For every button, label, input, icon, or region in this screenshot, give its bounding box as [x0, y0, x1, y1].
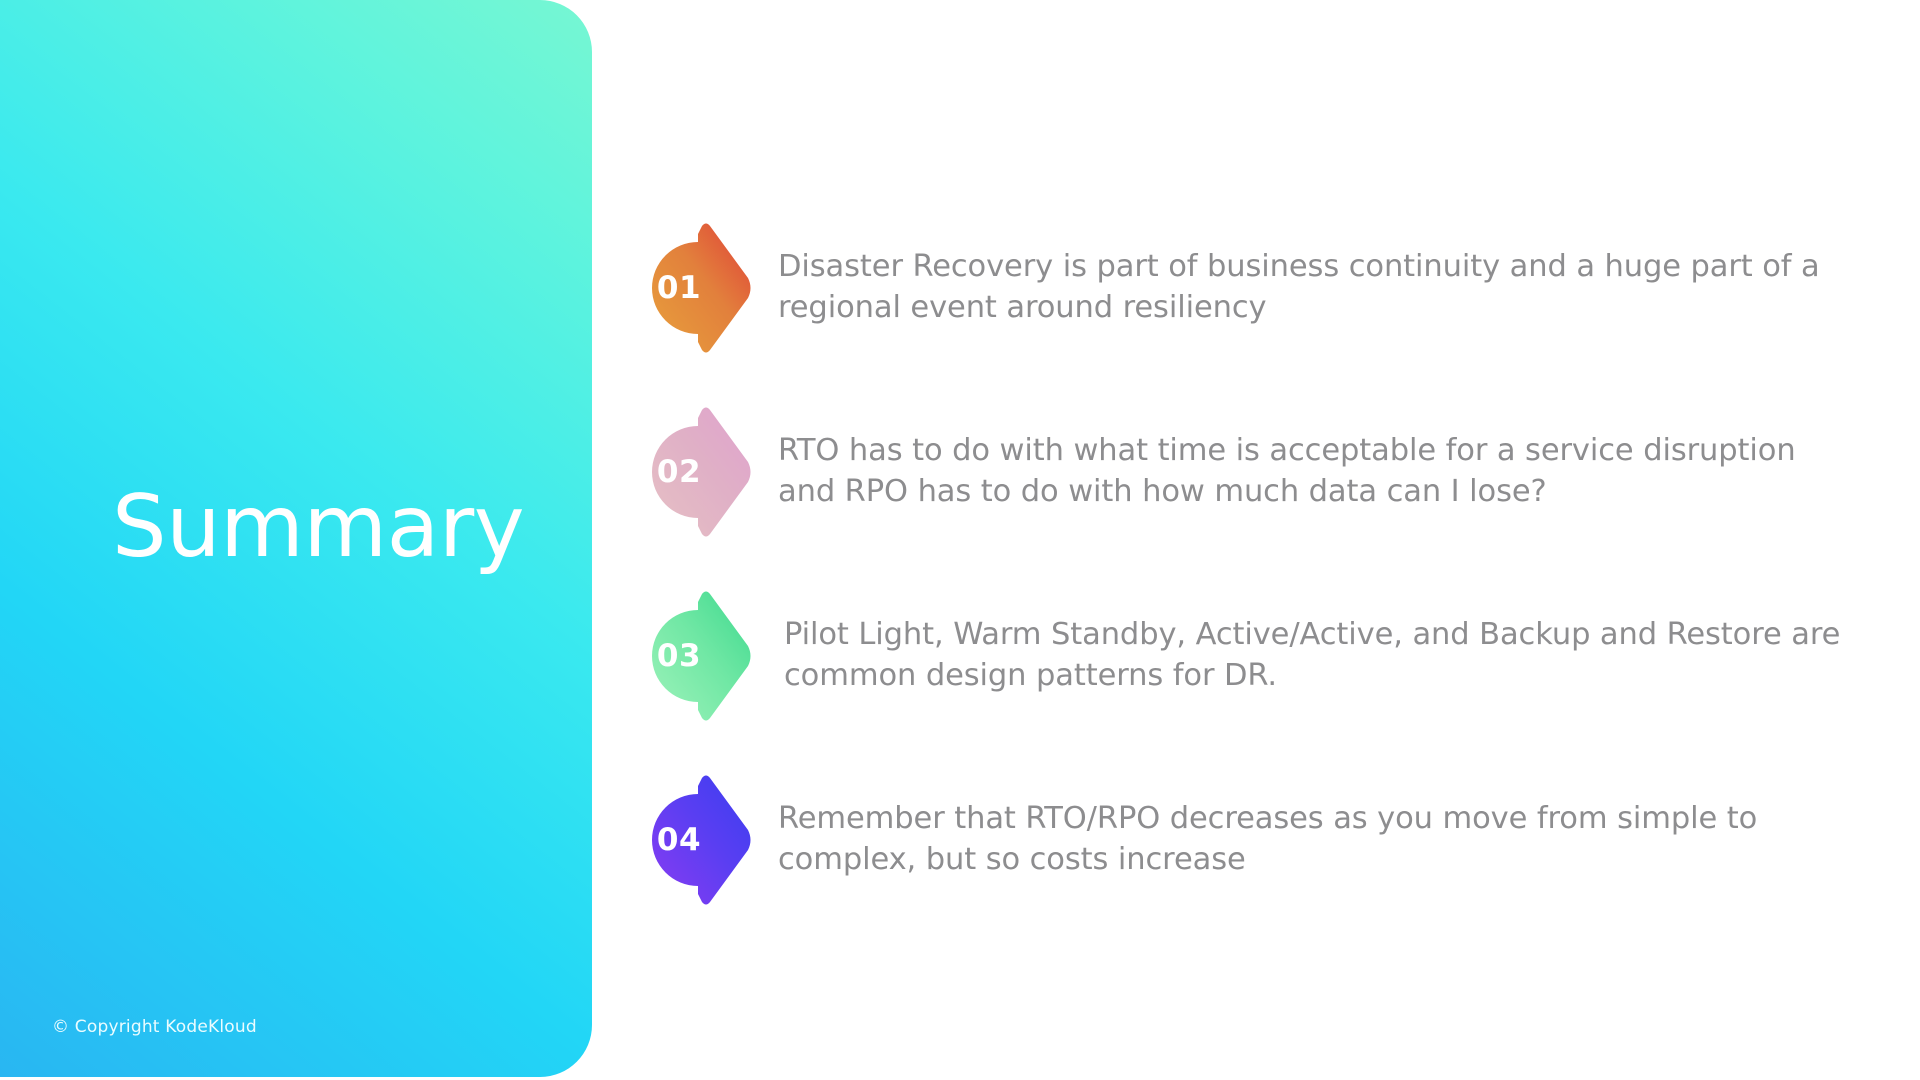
badge-number: 02	[640, 406, 718, 538]
badge-number: 04	[640, 774, 718, 906]
list-item: 01 Disaster Recovery is part of business…	[640, 232, 1860, 344]
page-title: Summary	[112, 482, 524, 572]
point-text: Remember that RTO/RPO decreases as you m…	[778, 799, 1860, 880]
slide-root: Summary © Copyright KodeKloud 01	[0, 0, 1920, 1080]
point-text: Disaster Recovery is part of business co…	[778, 247, 1860, 328]
arrow-badge-icon: 01	[640, 222, 756, 354]
copyright-notice: © Copyright KodeKloud	[52, 1017, 257, 1037]
badge-number: 03	[640, 590, 718, 722]
badge-number: 01	[640, 222, 718, 354]
point-text: Pilot Light, Warm Standby, Active/Active…	[778, 615, 1860, 696]
list-item: 04 Remember that RTO/RPO decreases as yo…	[640, 784, 1860, 896]
list-item: 02 RTO has to do with what time is accep…	[640, 416, 1860, 528]
summary-points-list: 01 Disaster Recovery is part of business…	[640, 232, 1860, 896]
left-gradient-panel: Summary © Copyright KodeKloud	[0, 0, 592, 1077]
list-item: 03 Pilot Light, Warm Standby, Active/Act…	[640, 600, 1860, 712]
arrow-badge-icon: 04	[640, 774, 756, 906]
point-text: RTO has to do with what time is acceptab…	[778, 431, 1860, 512]
arrow-badge-icon: 02	[640, 406, 756, 538]
arrow-badge-icon: 03	[640, 590, 756, 722]
